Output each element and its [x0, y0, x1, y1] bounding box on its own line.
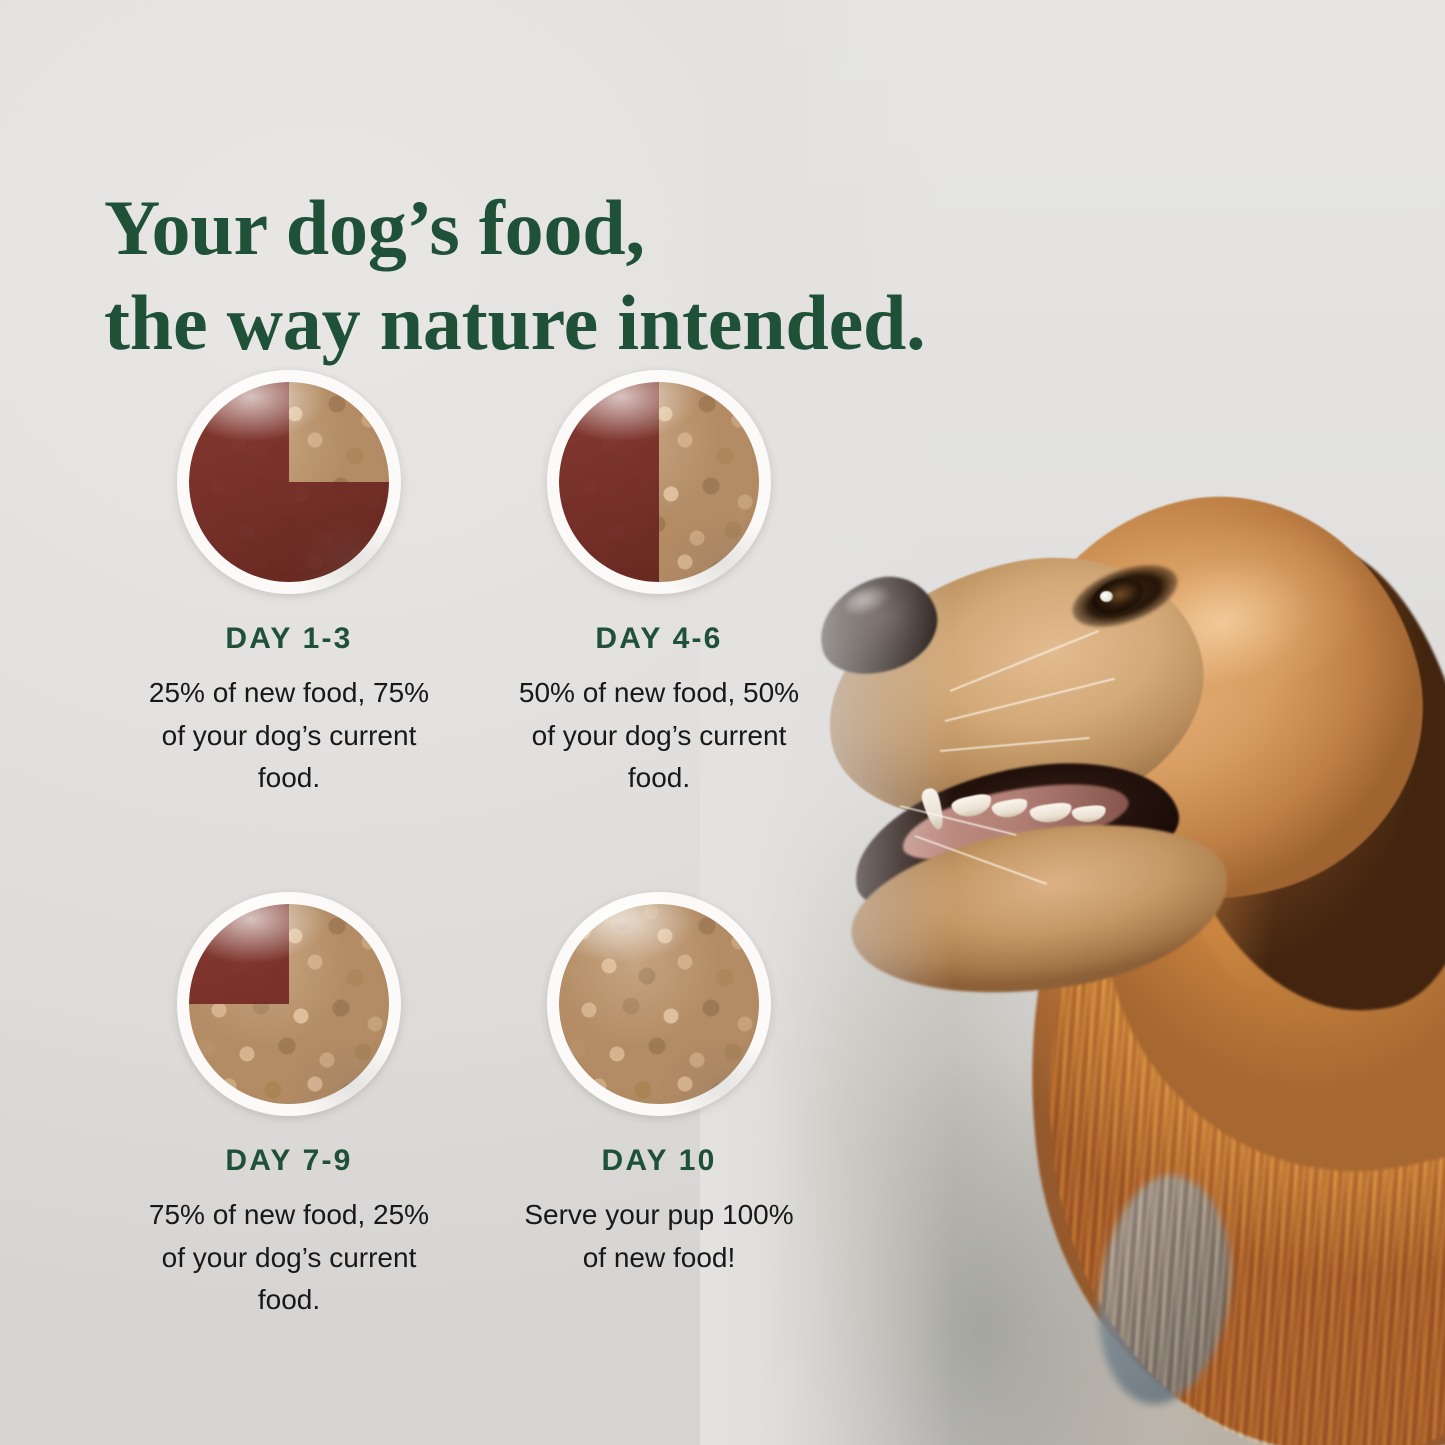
step-description-day-1-3: 25% of new food, 75% of your dog’s curre… [139, 672, 439, 800]
new-food-kibble [559, 904, 759, 1104]
step-label-day-10: DAY 10 [474, 1144, 844, 1178]
step-day-4-6: DAY 4-6 50% of new food, 50% of your dog… [474, 370, 844, 870]
bowl-dish [547, 370, 771, 594]
transition-steps-grid: DAY 1-3 25% of new food, 75% of your dog… [104, 370, 844, 1322]
bowl-dish [177, 370, 401, 594]
step-day-1-3: DAY 1-3 25% of new food, 75% of your dog… [104, 370, 474, 870]
bowl-contents [189, 382, 389, 582]
bowl-contents [189, 904, 389, 1104]
step-day-7-9: DAY 7-9 75% of new food, 25% of your dog… [104, 870, 474, 1322]
bowl-dish [177, 892, 401, 1116]
step-description-day-7-9: 75% of new food, 25% of your dog’s curre… [139, 1194, 439, 1322]
page-title-line-1: Your dog’s food, [104, 180, 1104, 275]
bowl-day-4-6 [547, 370, 771, 594]
step-label-day-1-3: DAY 1-3 [104, 622, 474, 656]
bowl-contents [559, 904, 759, 1104]
step-label-day-4-6: DAY 4-6 [474, 622, 844, 656]
page-title-line-2: the way nature intended. [104, 275, 1104, 370]
page-title: Your dog’s food, the way nature intended… [104, 180, 1104, 370]
step-day-10: DAY 10 Serve your pup 100% of new food! [474, 870, 844, 1322]
step-label-day-7-9: DAY 7-9 [104, 1144, 474, 1178]
bowl-day-1-3 [177, 370, 401, 594]
bowl-day-10 [547, 892, 771, 1116]
step-description-day-10: Serve your pup 100% of new food! [509, 1194, 809, 1279]
bowl-dish [547, 892, 771, 1116]
bowl-contents [559, 382, 759, 582]
promo-canvas: Your dog’s food, the way nature intended… [0, 0, 1445, 1445]
bowl-day-7-9 [177, 892, 401, 1116]
step-description-day-4-6: 50% of new food, 50% of your dog’s curre… [509, 672, 809, 800]
